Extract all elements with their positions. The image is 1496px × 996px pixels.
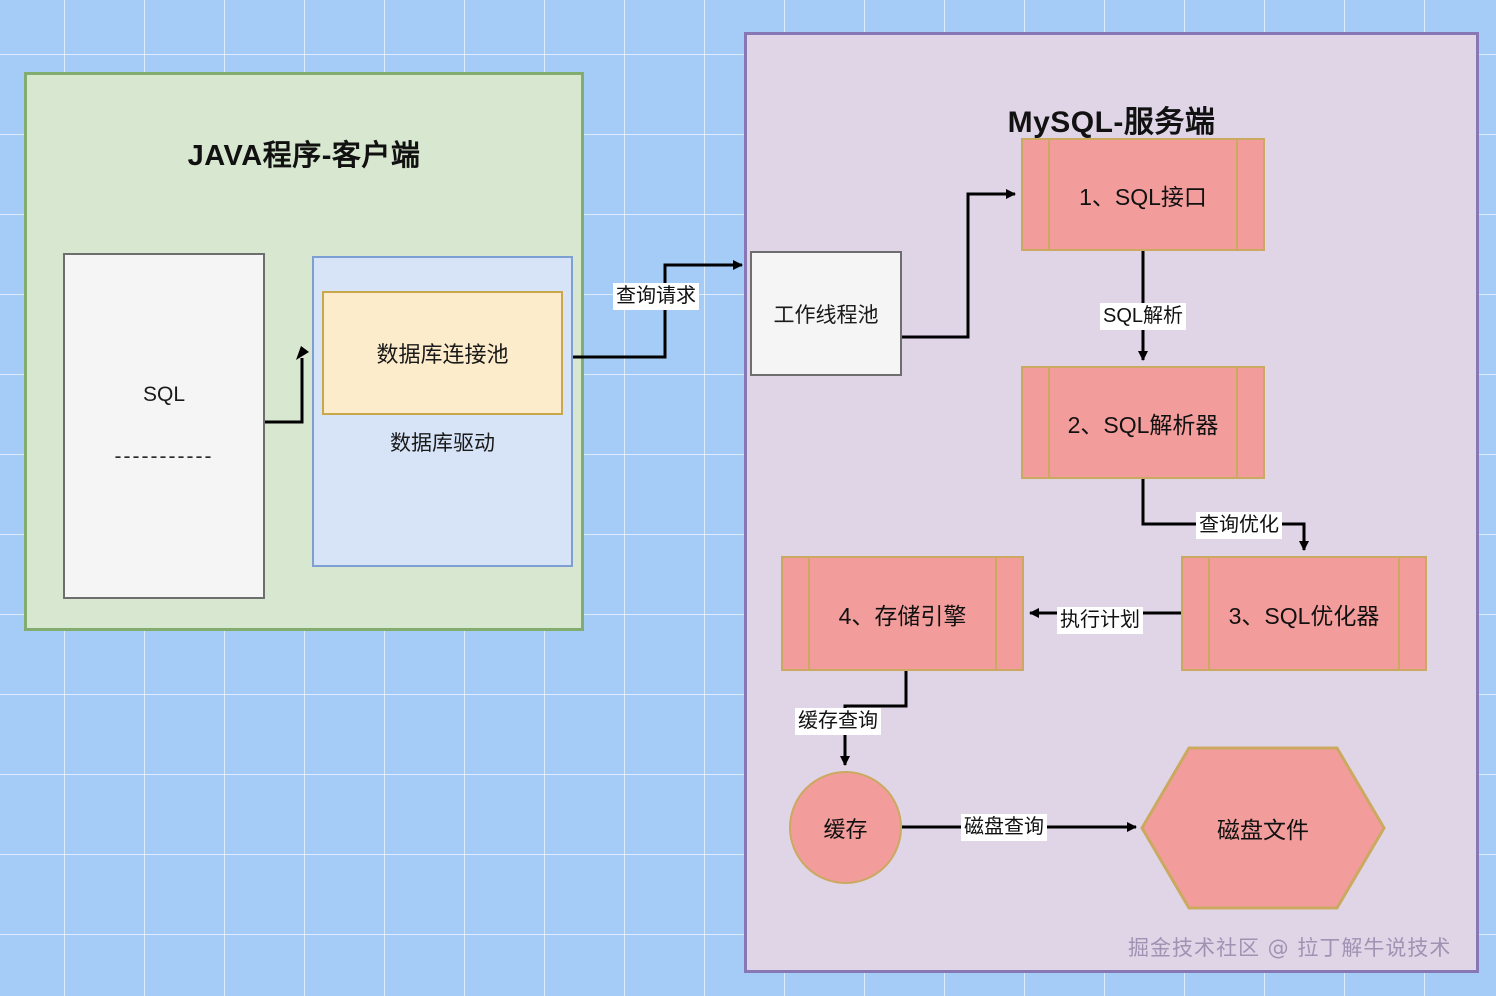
worker-thread-pool-label: 工作线程池	[774, 299, 879, 329]
connection-pool-label: 数据库连接池	[376, 337, 508, 369]
watermark: 掘金技术社区 @ 拉丁解牛说技术	[1128, 932, 1451, 962]
server-title: MySQL-服务端	[747, 97, 1476, 141]
edge-label-cache-query: 缓存查询	[795, 708, 881, 735]
sql-interface-node[interactable]: 1、SQL接口	[1021, 138, 1265, 251]
sql-optimizer-node[interactable]: 3、SQL优化器	[1181, 556, 1427, 671]
edge-label-exec-plan: 执行计划	[1057, 607, 1143, 634]
disk-file-label: 磁盘文件	[1140, 746, 1386, 910]
storage-engine-node[interactable]: 4、存储引擎	[781, 556, 1024, 671]
diagram-canvas: JAVA程序-客户端 SQL ----------- 数据库驱动 数据库连接池 …	[0, 0, 1496, 996]
database-driver-label: 数据库驱动	[390, 427, 495, 457]
sql-node-label: SQL	[143, 383, 185, 407]
client-title: JAVA程序-客户端	[27, 132, 581, 174]
sql-parser-label: 2、SQL解析器	[1068, 406, 1219, 440]
storage-engine-label: 4、存储引擎	[839, 597, 967, 631]
sql-node[interactable]: SQL -----------	[63, 253, 265, 599]
edge-label-query-request: 查询请求	[613, 283, 699, 310]
edge-query-request	[573, 265, 742, 357]
disk-file-node[interactable]: 磁盘文件	[1140, 746, 1386, 910]
edge-label-sql-parse: SQL解析	[1100, 303, 1186, 330]
edge-label-query-optimize: 查询优化	[1196, 512, 1282, 539]
sql-optimizer-label: 3、SQL优化器	[1229, 597, 1380, 631]
cache-label: 缓存	[823, 812, 867, 844]
edge-label-disk-query: 磁盘查询	[961, 814, 1047, 841]
sql-node-dashes: -----------	[115, 445, 214, 469]
worker-thread-pool-node[interactable]: 工作线程池	[750, 251, 902, 376]
sql-interface-label: 1、SQL接口	[1079, 178, 1207, 212]
cache-node[interactable]: 缓存	[789, 771, 902, 884]
sql-parser-node[interactable]: 2、SQL解析器	[1021, 366, 1265, 479]
connection-pool-node[interactable]: 数据库连接池	[322, 291, 563, 415]
